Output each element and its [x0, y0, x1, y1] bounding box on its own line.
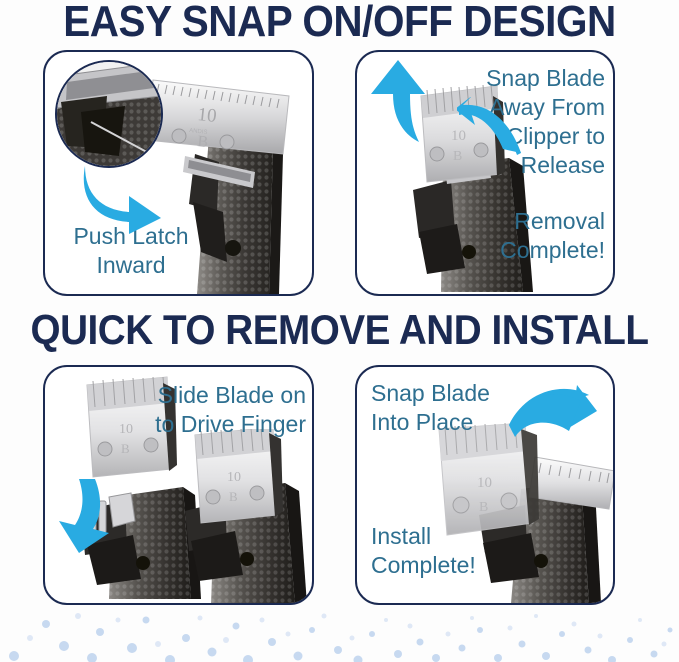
arrow-down-left-icon — [51, 477, 115, 555]
svg-text:B: B — [197, 133, 209, 151]
svg-text:B: B — [479, 500, 488, 515]
panel-slide-blade-drive-finger: 10 B — [43, 365, 314, 605]
caption-install-complete: Install Complete! — [371, 522, 531, 580]
curved-arrow-up-left-icon — [457, 97, 523, 157]
svg-text:B: B — [229, 489, 238, 504]
latch-closeup-inset — [55, 60, 163, 168]
page-title-main: EASY SNAP ON/OFF DESIGN — [27, 0, 652, 46]
panel-snap-blade-away: 10 B Snap Blade Away From Clipper to Rel… — [355, 50, 615, 296]
svg-text:10: 10 — [196, 104, 217, 127]
svg-text:B: B — [121, 441, 130, 456]
curved-arrow-right-down-icon — [507, 385, 597, 457]
clipper-illustration-p3-right: 10 B — [167, 429, 314, 605]
page-title-sub: QUICK TO REMOVE AND INSTALL — [27, 307, 652, 353]
curved-arrow-right-down-icon — [81, 160, 165, 234]
panel-snap-blade-into-place: 10 B Snap Blade Into Place Install Compl… — [355, 365, 615, 605]
svg-text:10: 10 — [477, 475, 492, 491]
caption-removal-complete: Removal Complete! — [427, 207, 605, 265]
caption-slide-blade-drive-finger: Slide Blade on to Drive Finger — [120, 381, 306, 439]
svg-text:10: 10 — [227, 470, 241, 485]
arrow-up-icon — [367, 60, 429, 144]
panel-push-latch-inward: 10 ANDIS B Push Latch Inward — [43, 50, 314, 296]
